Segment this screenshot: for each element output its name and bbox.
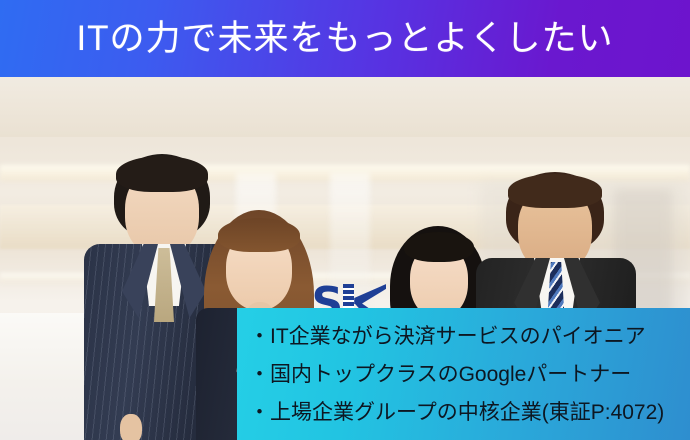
feature-list-panel: ・IT企業ながら決済サービスのパイオニア ・国内トップクラスのGoogleパート… (237, 308, 690, 440)
feature-item: ・国内トップクラスのGoogleパートナー (249, 356, 690, 394)
feature-item: ・上場企業グループの中核企業(東証P:4072) (249, 394, 690, 432)
promo-banner-image: ITの力で未来をもっとよくしたい CHANGE·INNOVATION DS (0, 0, 690, 440)
wall-band-upper (0, 77, 690, 137)
banner-title: ITの力で未来をもっとよくしたい (76, 21, 613, 56)
header-banner: ITの力で未来をもっとよくしたい (0, 0, 690, 77)
hair-fringe (404, 232, 474, 262)
hair-fringe (508, 174, 602, 208)
hand (120, 414, 142, 440)
hair-fringe (218, 218, 300, 252)
feature-item: ・IT企業ながら決済サービスのパイオニア (249, 318, 690, 356)
hair-fringe (116, 156, 208, 192)
